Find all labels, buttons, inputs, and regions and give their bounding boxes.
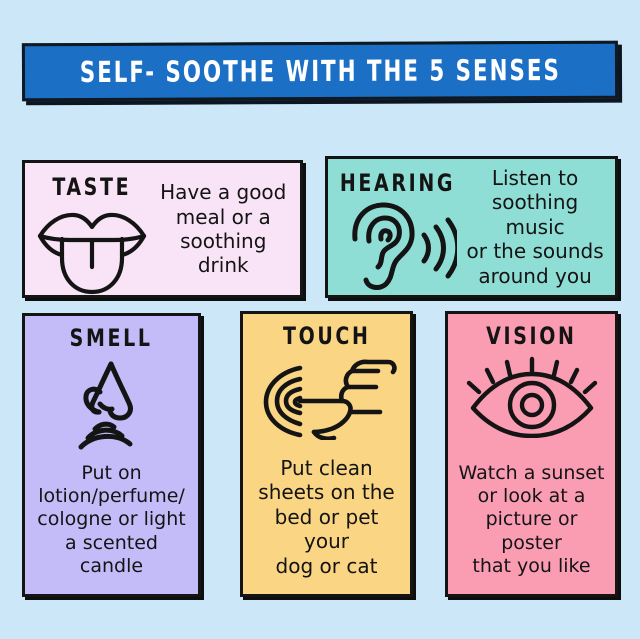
hearing-text-wrap: Listen to soothing music or the sounds a… — [463, 165, 611, 289]
poster-title-banner: SELF- SOOTHE WITH THE 5 SENSES — [22, 41, 618, 102]
smell-text: Put on lotion/perfume/ cologne or light … — [37, 462, 185, 578]
sense-card-vision: VISION Watch a sunset or look at a pictu… — [445, 311, 618, 597]
taste-text-wrap: Have a good meal or a soothing drink — [154, 169, 296, 289]
sense-card-smell: SMELL Put on lotion/perfume/ cologne or … — [22, 313, 201, 597]
hearing-title: HEARING — [340, 169, 455, 197]
touch-text: Put clean sheets on the bed or pet your … — [249, 456, 404, 578]
poster-title: SELF- SOOTHE WITH THE 5 SENSES — [79, 53, 560, 89]
hearing-title-icon-group: HEARING — [332, 165, 463, 289]
infographic-poster: SELF- SOOTHE WITH THE 5 SENSES TASTE Hav… — [0, 0, 640, 639]
sense-card-taste: TASTE Have a good meal or a soothing dri… — [22, 160, 303, 298]
sense-card-hearing: HEARING Listen to soothing music or the … — [325, 156, 618, 298]
ear-soundwaves-icon — [339, 199, 457, 293]
mouth-tongue-icon — [34, 203, 150, 295]
taste-title-icon-group: TASTE — [29, 169, 154, 289]
vision-text: Watch a sunset or look at a picture or p… — [454, 462, 609, 578]
eye-eyelashes-icon — [465, 356, 599, 438]
taste-title: TASTE — [52, 173, 131, 201]
sense-card-touch: TOUCH Put clean sheets on the bed or pet… — [240, 311, 413, 597]
taste-text: Have a good meal or a soothing drink — [160, 180, 286, 278]
touch-title: TOUCH — [283, 322, 371, 350]
smell-title: SMELL — [70, 324, 153, 352]
hand-touch-icon — [256, 356, 398, 440]
vision-title: VISION — [486, 322, 576, 350]
hearing-text: Listen to soothing music or the sounds a… — [463, 166, 607, 288]
nose-scentwaves-icon — [64, 358, 160, 454]
